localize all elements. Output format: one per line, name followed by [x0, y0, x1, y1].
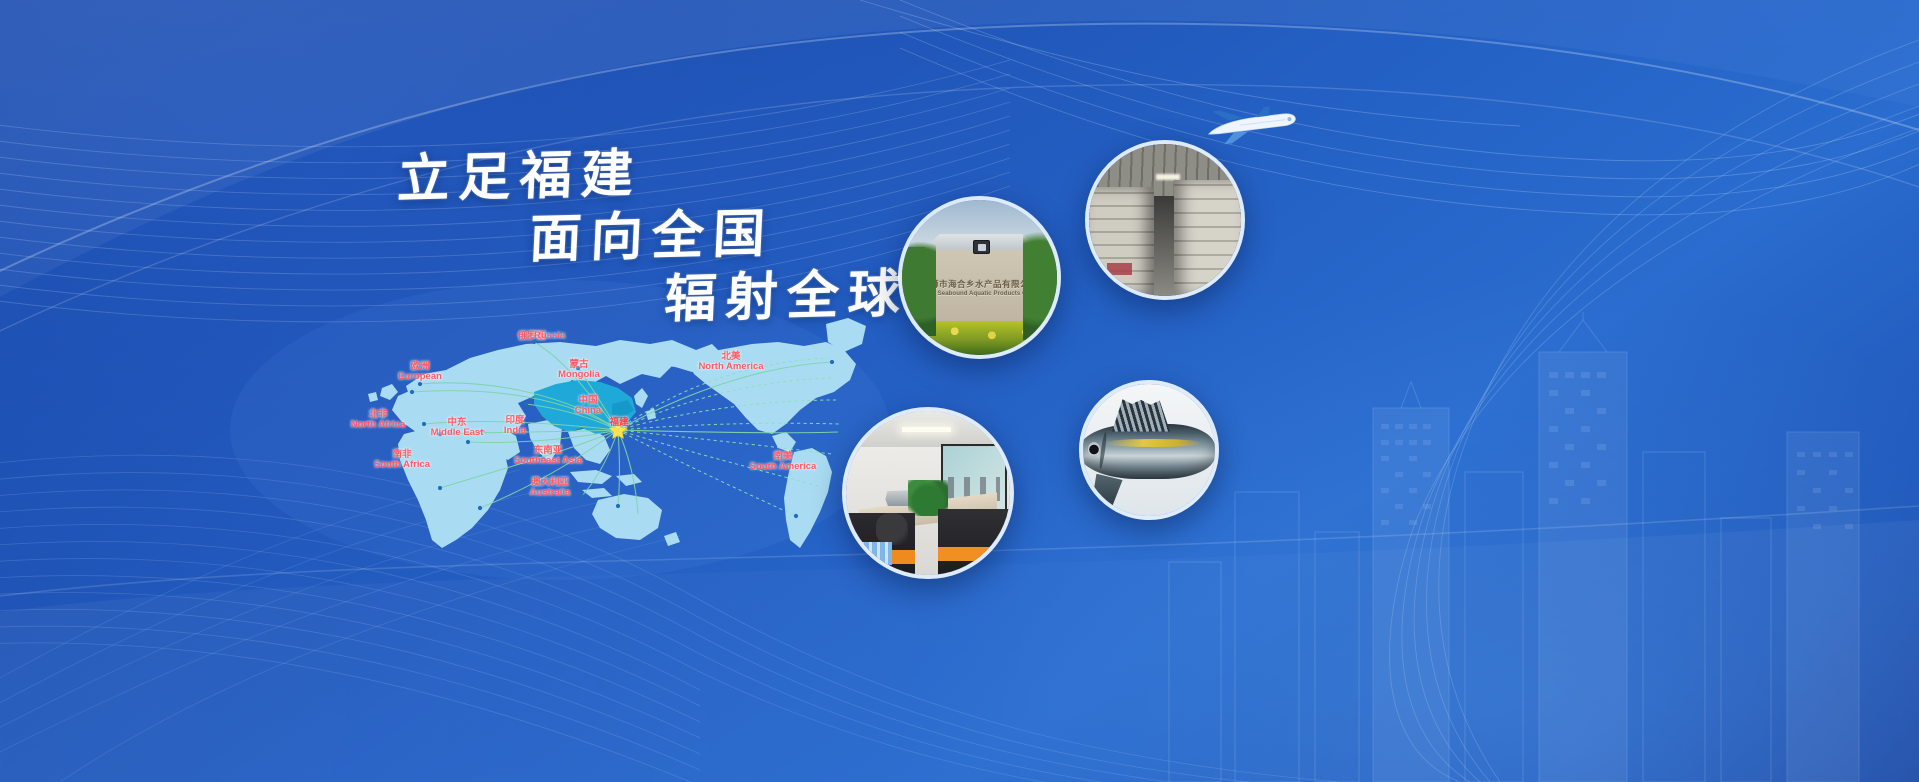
map-label-north-america: 北美 North America	[686, 352, 776, 371]
photo-office-interior	[842, 407, 1014, 579]
headline-group: 立足福建 面向全国 辐射全球	[390, 118, 920, 308]
photo-cold-storage-warehouse	[1085, 140, 1245, 300]
map-label-european: 欧洲 European	[384, 362, 456, 381]
airplane-icon	[1200, 105, 1300, 147]
hero-banner: 立足福建 面向全国 辐射全球	[0, 0, 1919, 782]
map-label-middle-east: 中东 Middle East	[418, 418, 496, 437]
map-label-south-africa: 南非 South Africa	[360, 450, 444, 469]
photo-tuna-fish-product	[1079, 380, 1219, 520]
map-label-australia: 澳大利亚 Australia	[510, 478, 590, 497]
map-graphic	[320, 300, 880, 565]
photo-company-entrance-sign: 石狮市海合乡水产品有限公司 Shishi Seabound Aquatic Pr…	[898, 196, 1061, 359]
background-wave-lines	[0, 0, 1919, 782]
map-label-india: 印度 India	[488, 416, 542, 435]
city-skyline-silhouette	[1139, 312, 1919, 782]
map-label-mongolia: 蒙古 Mongolia	[548, 360, 610, 379]
map-label-southeast-asia: 东南亚 Southeast Asia	[496, 446, 600, 465]
map-label-north-africa: 北非 North Africa	[336, 410, 420, 429]
map-label-russia-en: Russia	[534, 331, 594, 341]
map-label-south-america: 南美 South America	[736, 452, 830, 471]
world-trade-route-map: 俄罗斯 Russia 蒙古 Mongolia 中国 China 欧洲 Europ…	[320, 300, 880, 565]
map-label-china: 中国 China	[558, 396, 618, 415]
map-label-fujian: 福建	[602, 418, 636, 428]
wall-lamp-icon	[973, 240, 990, 254]
